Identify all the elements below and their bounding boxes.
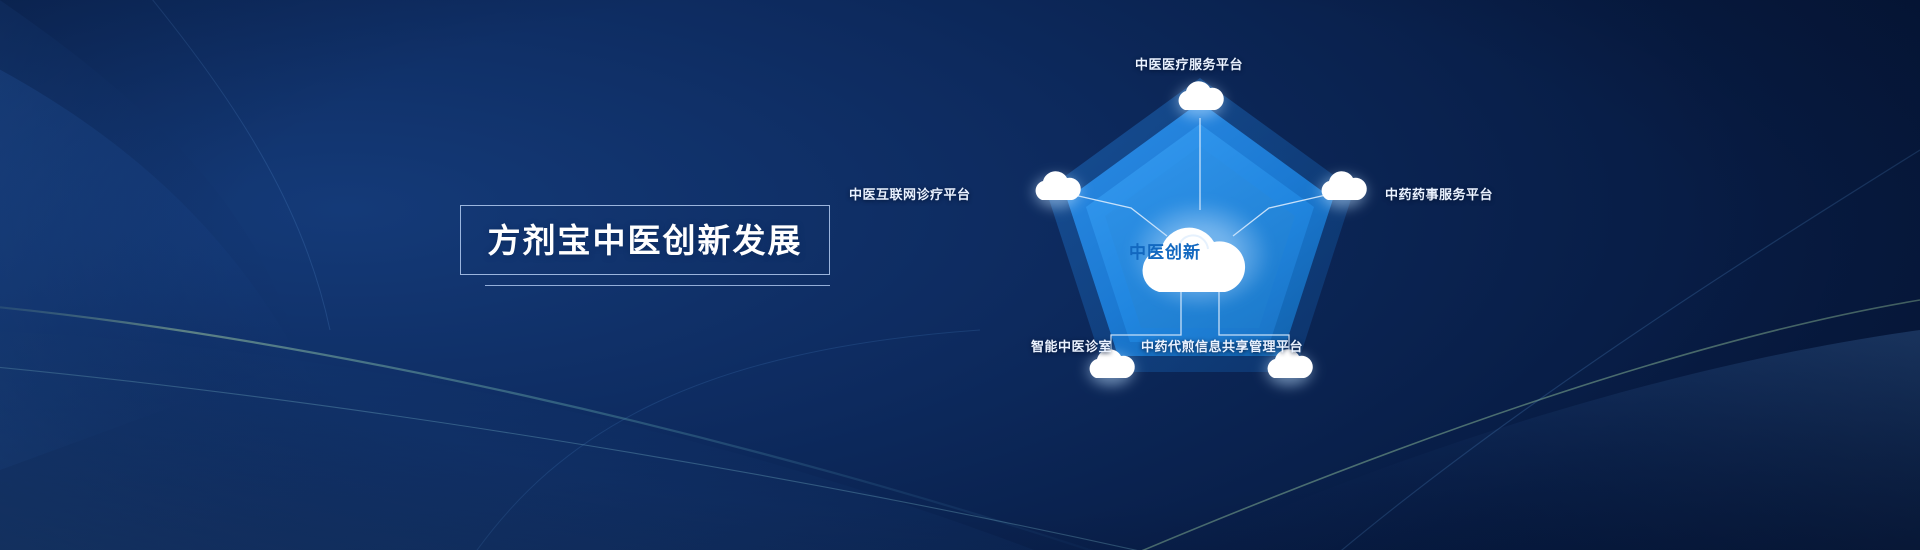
node-label-bottom-right: 中药代煎信息共享管理平台 bbox=[1141, 336, 1303, 355]
node-label-bottom-left: 智能中医诊室 bbox=[1031, 336, 1112, 355]
hero-title-frame: 方剂宝中医创新发展 bbox=[460, 205, 830, 275]
page-title: 方剂宝中医创新发展 bbox=[488, 224, 803, 257]
node-label-left: 中医互联网诊疗平台 bbox=[849, 184, 971, 203]
cloud-icon-left bbox=[1027, 170, 1087, 214]
cloud-icon-top bbox=[1170, 80, 1230, 124]
cloud-icon-right bbox=[1313, 170, 1373, 214]
center-node-label: 中医创新 bbox=[1129, 238, 1201, 263]
node-label-right: 中药药事服务平台 bbox=[1385, 184, 1493, 203]
hero-title-block: 方剂宝中医创新发展 bbox=[460, 205, 830, 275]
node-label-top: 中医医疗服务平台 bbox=[1135, 54, 1243, 73]
pentagon-diagram: 中医医疗服务平台 中医互联网诊疗平台 中药药事服务平台 智能中医诊室 中药代煎信… bbox=[935, 40, 1465, 440]
hero-title-underline bbox=[485, 285, 830, 286]
hero-banner: 方剂宝中医创新发展 bbox=[0, 0, 1920, 550]
